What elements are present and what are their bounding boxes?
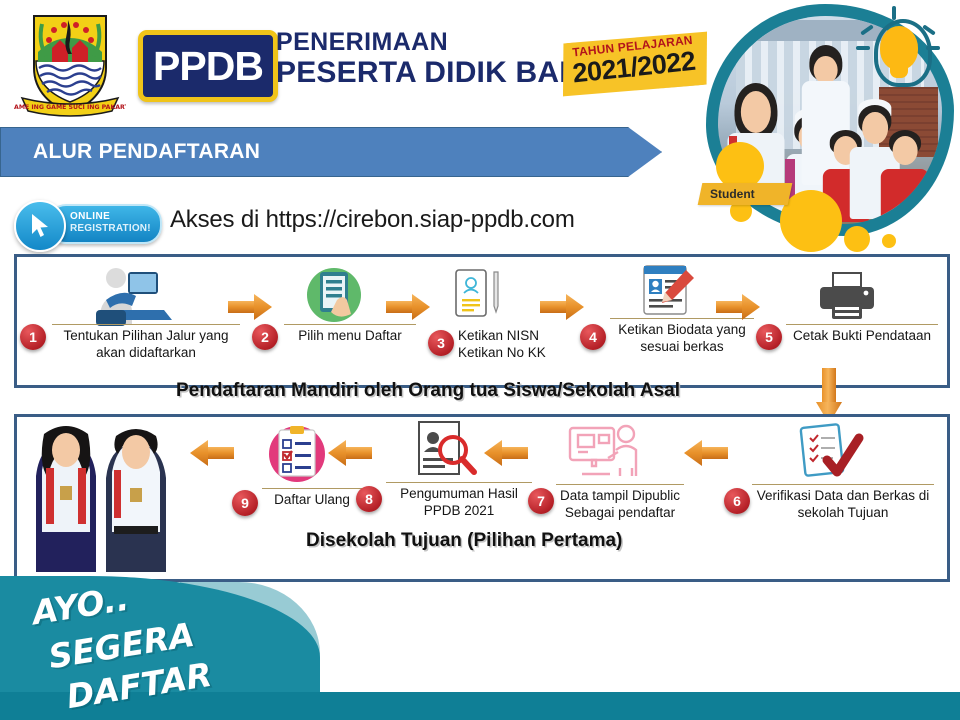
document-search-icon bbox=[409, 420, 479, 483]
flow-arrow-right bbox=[716, 294, 760, 320]
step-3: 3 Ketikan NISN Ketikan No KK bbox=[428, 266, 570, 374]
step-7: 7 Data tampil Dipublic Sebagai pendaftar bbox=[528, 422, 684, 530]
step-3-label: Ketikan NISN Ketikan No KK bbox=[458, 328, 570, 362]
step-2-label: Pilih menu Daftar bbox=[284, 324, 416, 345]
step-5-number: 5 bbox=[756, 324, 782, 350]
ppdb-logo-text: PPDB bbox=[153, 46, 263, 87]
ppdb-logo: PPDB bbox=[138, 30, 278, 102]
checklist-check-icon bbox=[789, 422, 869, 489]
online-badge-line-2: REGISTRATION! bbox=[70, 223, 151, 234]
clipboard-checklist-icon bbox=[266, 424, 328, 489]
step-2: 2 Pilih menu Daftar bbox=[252, 266, 416, 374]
step-5: 5 Cetak Bukti Pendataan bbox=[756, 266, 938, 374]
lightbulb-icon bbox=[866, 16, 932, 92]
student-label-tag: Student bbox=[698, 183, 793, 205]
flow-row-2-section-label: Disekolah Tujuan (Pilihan Pertama) bbox=[306, 530, 622, 552]
emblem-motto: GAME ING GAME SUCI ING PAKARTI bbox=[14, 104, 126, 111]
step-8-number: 8 bbox=[356, 486, 382, 512]
step-4-label: Ketikan Biodata yang sesuai berkas bbox=[610, 318, 754, 356]
cursor-icon bbox=[31, 213, 51, 239]
step-9-label: Daftar Ulang bbox=[262, 488, 362, 509]
printer-icon bbox=[816, 270, 878, 329]
decor-yellow-circle bbox=[844, 226, 870, 252]
online-badge-line-1: ONLINE bbox=[70, 211, 110, 222]
flow-arrow-left bbox=[190, 440, 234, 466]
flow-arrow-left bbox=[484, 440, 528, 466]
student-label-text: Student bbox=[700, 183, 790, 205]
step-3-number: 3 bbox=[428, 330, 454, 356]
step-2-number: 2 bbox=[252, 324, 278, 350]
form-edit-icon bbox=[634, 262, 700, 325]
flow-arrow-right bbox=[386, 294, 430, 320]
cirebon-city-emblem-icon: GAME ING GAME SUCI ING PAKARTI bbox=[14, 6, 126, 118]
person-at-laptop-icon bbox=[84, 266, 176, 333]
step-7-label: Data tampil Dipublic Sebagai pendaftar bbox=[556, 484, 684, 522]
two-students-photo bbox=[18, 418, 194, 572]
step-1-number: 1 bbox=[20, 324, 46, 350]
banner-title: ALUR PENDAFTARAN bbox=[1, 140, 260, 164]
step-9-number: 9 bbox=[232, 490, 258, 516]
step-1: 1 Tentukan Pilihan Jalur yang akan didaf… bbox=[20, 266, 240, 374]
tablet-touch-icon bbox=[303, 266, 365, 329]
step-4-number: 4 bbox=[580, 324, 606, 350]
access-url-text: Akses di https://cirebon.siap-ppdb.com bbox=[170, 206, 575, 234]
header-line-2: PESERTA DIDIK BARU bbox=[276, 58, 603, 88]
alur-pendaftaran-banner: ALUR PENDAFTARAN bbox=[0, 127, 662, 177]
step-8-label: Pengumuman Hasil PPDB 2021 bbox=[386, 482, 532, 520]
step-5-label: Cetak Bukti Pendataan bbox=[786, 324, 938, 345]
decor-yellow-circle bbox=[882, 234, 896, 248]
step-7-number: 7 bbox=[528, 488, 554, 514]
flow-arrow-left bbox=[684, 440, 728, 466]
id-card-pen-icon bbox=[452, 266, 506, 329]
flow-arrow-right bbox=[540, 294, 584, 320]
online-registration-badge[interactable]: ONLINE REGISTRATION! bbox=[14, 200, 160, 244]
school-year-banner: TAHUN PELAJARAN 2021/2022 bbox=[557, 28, 712, 99]
infographic-page: GAME ING GAME SUCI ING PAKARTI PPDB PENE… bbox=[0, 0, 960, 720]
header-line-1: PENERIMAAN bbox=[276, 30, 448, 55]
step-9: 9 Daftar Ulang bbox=[232, 424, 362, 524]
step-6: 6 Verifikasi Data dan Berkas di sekolah … bbox=[724, 422, 934, 530]
step-6-number: 6 bbox=[724, 488, 750, 514]
presentation-person-icon bbox=[566, 422, 646, 489]
step-6-label: Verifikasi Data dan Berkas di sekolah Tu… bbox=[752, 484, 934, 522]
flow-row-1-section-label: Pendaftaran Mandiri oleh Orang tua Siswa… bbox=[176, 380, 680, 402]
step-1-label: Tentukan Pilihan Jalur yang akan didafta… bbox=[52, 324, 240, 362]
student-figure bbox=[879, 128, 931, 224]
step-8: 8 Pengumuman Hasil PPDB 2021 bbox=[356, 420, 532, 528]
cursor-badge-circle bbox=[14, 200, 66, 252]
